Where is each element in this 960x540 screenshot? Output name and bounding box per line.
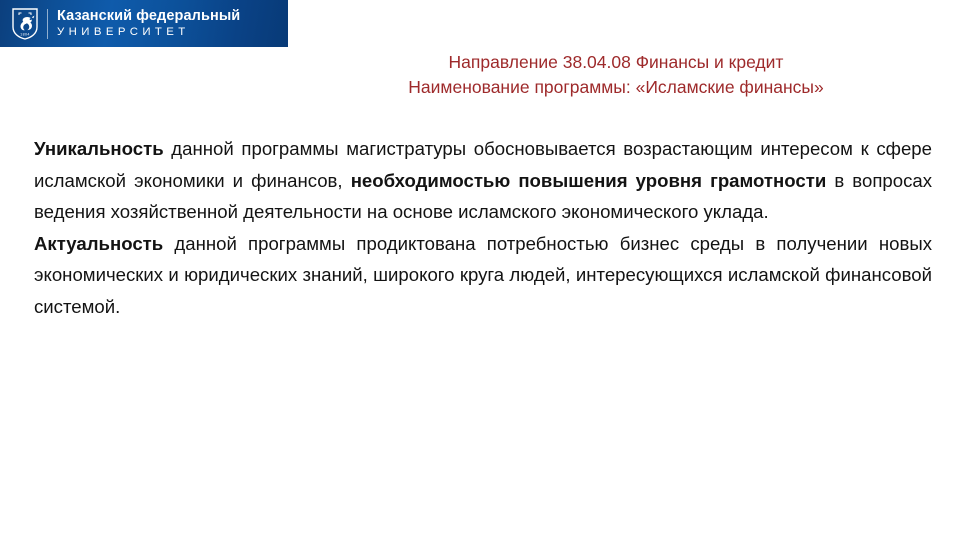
paragraph-2-lead-term: Актуальность bbox=[34, 233, 163, 254]
crest-year: 1804 bbox=[20, 32, 30, 36]
logo-line-2: УНИВЕРСИТЕТ bbox=[57, 27, 240, 38]
paragraph-2-text: данной программы продиктована потребност… bbox=[34, 233, 932, 317]
logo-line-1: Казанский федеральный bbox=[57, 9, 240, 24]
paragraph-uniqueness: Уникальность данной программы магистрату… bbox=[34, 133, 932, 228]
paragraph-relevance: Актуальность данной программы продиктова… bbox=[34, 228, 932, 323]
slide-body-text: Уникальность данной программы магистрату… bbox=[34, 133, 932, 322]
header-title-line-2: Наименование программы: «Исламские финан… bbox=[300, 75, 932, 100]
presentation-slide: 1804 Казанский федеральный УНИВЕРСИТЕТ Н… bbox=[0, 0, 960, 540]
paragraph-1-emphasis: необходимостью повышения уровня грамотно… bbox=[351, 170, 827, 191]
logo-divider bbox=[47, 9, 48, 39]
paragraph-1-lead-term: Уникальность bbox=[34, 138, 164, 159]
slide-header-title: Направление 38.04.08 Финансы и кредит На… bbox=[300, 50, 932, 100]
university-logo-banner: 1804 Казанский федеральный УНИВЕРСИТЕТ bbox=[0, 0, 288, 47]
logo-wordmark: Казанский федеральный УНИВЕРСИТЕТ bbox=[57, 9, 240, 38]
kfu-shield-crest-icon: 1804 bbox=[12, 8, 38, 40]
header-title-line-1: Направление 38.04.08 Финансы и кредит bbox=[300, 50, 932, 75]
